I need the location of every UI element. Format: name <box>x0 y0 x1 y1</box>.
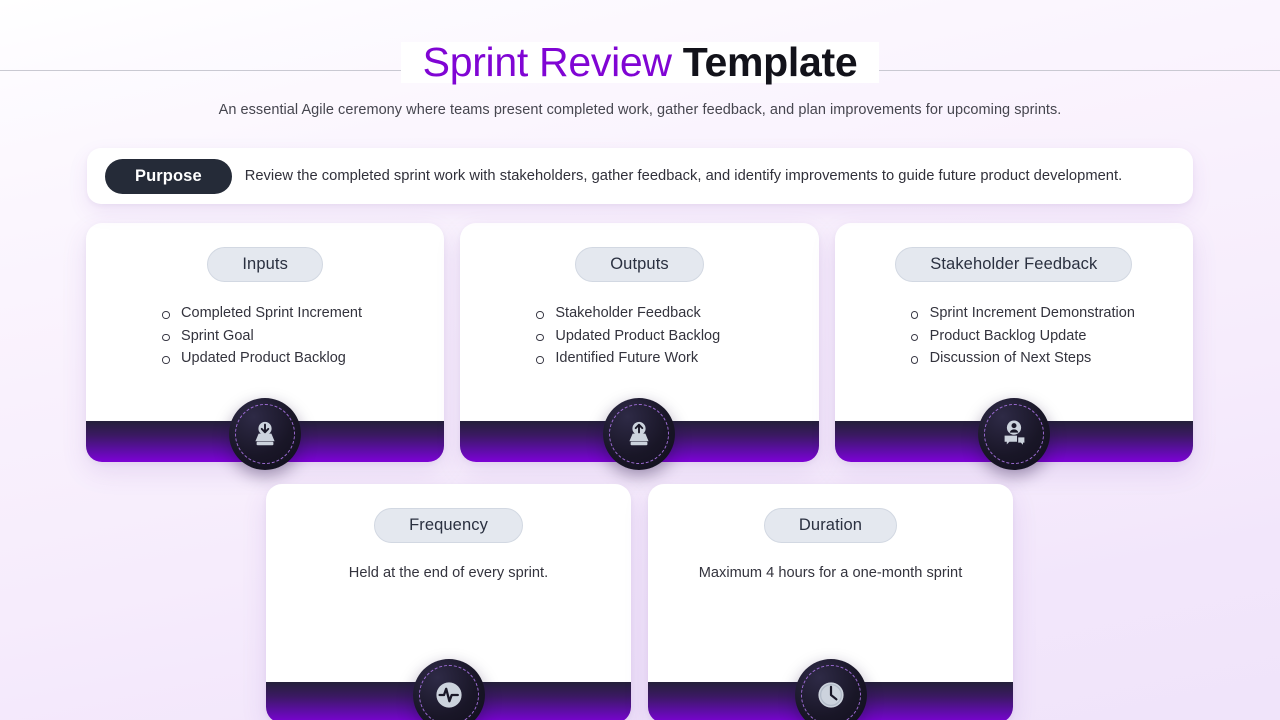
page-header: Sprint Review Template An essential Agil… <box>0 0 1280 118</box>
page-title-plain: Template <box>683 39 858 85</box>
card-stakeholder-feedback[interactable]: Stakeholder Feedback Sprint Increment De… <box>835 223 1193 462</box>
list-item: Identified Future Work <box>536 347 818 370</box>
card-stakeholder-feedback-title: Stakeholder Feedback <box>895 247 1132 282</box>
purpose-description: Review the completed sprint work with st… <box>245 168 1123 184</box>
list-item: Product Backlog Update <box>911 325 1193 348</box>
purpose-badge: Purpose <box>105 159 232 194</box>
page-subtitle: An essential Agile ceremony where teams … <box>0 102 1280 118</box>
card-duration-text: Maximum 4 hours for a one-month sprint <box>648 565 1013 581</box>
list-item: Stakeholder Feedback <box>536 302 818 325</box>
list-item: Sprint Increment Demonstration <box>911 302 1193 325</box>
card-duration-title: Duration <box>764 508 897 543</box>
cards-row-top: Inputs Completed Sprint Increment Sprint… <box>86 223 1193 462</box>
person-feedback-icon <box>978 398 1050 470</box>
list-item: Sprint Goal <box>162 325 444 348</box>
card-outputs[interactable]: Outputs Stakeholder Feedback Updated Pro… <box>460 223 818 462</box>
cards-row-bottom: Frequency Held at the end of every sprin… <box>266 484 1013 720</box>
card-stakeholder-feedback-list: Sprint Increment Demonstration Product B… <box>911 302 1193 370</box>
card-outputs-title: Outputs <box>575 247 703 282</box>
card-inputs[interactable]: Inputs Completed Sprint Increment Sprint… <box>86 223 444 462</box>
card-outputs-list: Stakeholder Feedback Updated Product Bac… <box>536 302 818 370</box>
page-title-accent: Sprint Review <box>423 39 672 85</box>
list-item: Discussion of Next Steps <box>911 347 1193 370</box>
card-frequency-title: Frequency <box>374 508 523 543</box>
card-inputs-list: Completed Sprint Increment Sprint Goal U… <box>162 302 444 370</box>
list-item: Updated Product Backlog <box>536 325 818 348</box>
purpose-banner: Purpose Review the completed sprint work… <box>87 148 1193 204</box>
card-frequency[interactable]: Frequency Held at the end of every sprin… <box>266 484 631 720</box>
list-item: Completed Sprint Increment <box>162 302 444 325</box>
outbox-upload-icon <box>603 398 675 470</box>
list-item: Updated Product Backlog <box>162 347 444 370</box>
card-inputs-title: Inputs <box>207 247 323 282</box>
card-frequency-text: Held at the end of every sprint. <box>266 565 631 581</box>
page-title: Sprint Review Template <box>401 42 880 83</box>
inbox-download-icon <box>229 398 301 470</box>
card-duration[interactable]: Duration Maximum 4 hours for a one-month… <box>648 484 1013 720</box>
